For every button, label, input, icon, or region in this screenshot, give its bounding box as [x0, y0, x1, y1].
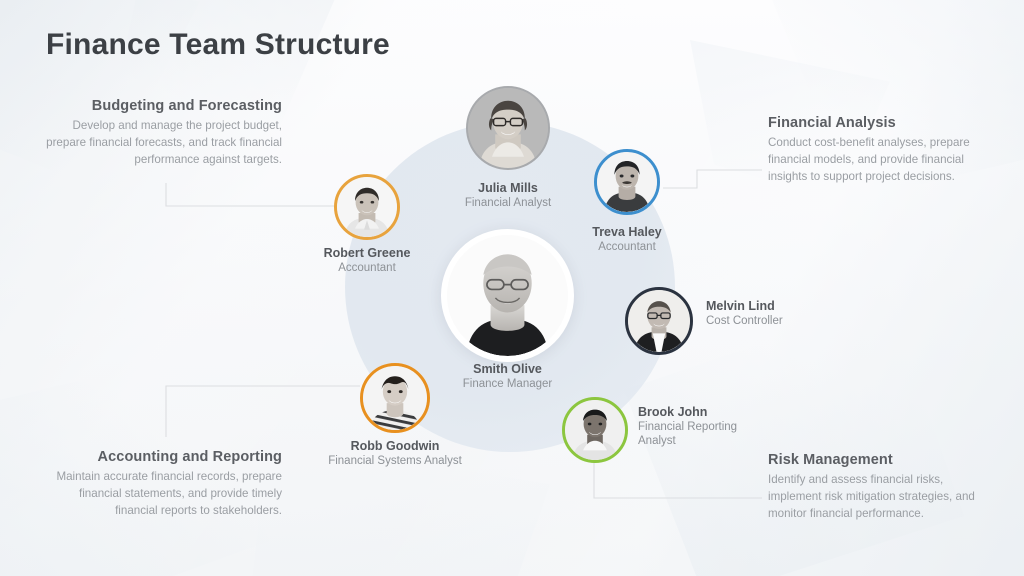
- description-body: Develop and manage the project budget, p…: [40, 118, 282, 168]
- label-melvin-lind: Melvin Lind Cost Controller: [706, 299, 876, 328]
- avatar-treva-haley[interactable]: [594, 149, 660, 215]
- label-julia-mills: Julia Mills Financial Analyst: [430, 181, 586, 210]
- label-robert-greene: Robert Greene Accountant: [300, 246, 434, 275]
- description-budgeting-and-forecasting: Budgeting and Forecasting Develop and ma…: [40, 98, 282, 168]
- avatar-photo: [447, 235, 568, 356]
- description-heading: Financial Analysis: [768, 115, 996, 131]
- description-financial-analysis: Financial Analysis Conduct cost-benefit …: [768, 115, 996, 185]
- avatar-julia-mills[interactable]: [466, 86, 550, 170]
- avatar-photo: [337, 177, 397, 237]
- member-name: Robert Greene: [300, 246, 434, 261]
- label-robb-goodwin: Robb Goodwin Financial Systems Analyst: [326, 439, 464, 468]
- member-name: Melvin Lind: [706, 299, 876, 314]
- member-name: Brook John: [638, 405, 766, 420]
- member-role: Accountant: [566, 240, 688, 254]
- member-role: Financial Reporting Analyst: [638, 420, 766, 448]
- description-body: Conduct cost-benefit analyses, prepare f…: [768, 135, 996, 185]
- connector-accounting: [166, 386, 360, 437]
- avatar-brook-john[interactable]: [562, 397, 628, 463]
- description-risk-management: Risk Management Identify and assess fina…: [768, 452, 996, 522]
- member-role: Finance Manager: [441, 377, 574, 391]
- page-title: Finance Team Structure: [46, 28, 390, 62]
- avatar-photo: [597, 152, 657, 212]
- description-heading: Risk Management: [768, 452, 996, 468]
- avatar-photo: [363, 366, 427, 430]
- description-heading: Budgeting and Forecasting: [40, 98, 282, 114]
- avatar-smith-olive[interactable]: [441, 229, 574, 362]
- description-accounting-and-reporting: Accounting and Reporting Maintain accura…: [34, 449, 282, 519]
- slide-canvas: Finance Team Structure Budgeting and For…: [0, 0, 1024, 576]
- member-role: Accountant: [300, 261, 434, 275]
- avatar-photo: [468, 88, 548, 168]
- member-name: Robb Goodwin: [326, 439, 464, 454]
- description-heading: Accounting and Reporting: [34, 449, 282, 465]
- member-name: Smith Olive: [441, 362, 574, 377]
- connector-budgeting: [166, 183, 336, 206]
- description-body: Maintain accurate financial records, pre…: [34, 469, 282, 519]
- connector-risk: [594, 451, 762, 498]
- avatar-photo: [565, 400, 625, 460]
- avatar-robb-goodwin[interactable]: [360, 363, 430, 433]
- member-role: Financial Analyst: [430, 196, 586, 210]
- connector-financial-analysis: [663, 170, 762, 188]
- avatar-photo: [628, 290, 690, 352]
- description-body: Identify and assess financial risks, imp…: [768, 472, 996, 522]
- member-role: Cost Controller: [706, 314, 876, 328]
- label-treva-haley: Treva Haley Accountant: [566, 225, 688, 254]
- label-brook-john: Brook John Financial Reporting Analyst: [638, 405, 766, 448]
- avatar-robert-greene[interactable]: [334, 174, 400, 240]
- member-name: Treva Haley: [566, 225, 688, 240]
- label-smith-olive: Smith Olive Finance Manager: [441, 362, 574, 391]
- member-name: Julia Mills: [430, 181, 586, 196]
- member-role: Financial Systems Analyst: [326, 454, 464, 468]
- avatar-melvin-lind[interactable]: [625, 287, 693, 355]
